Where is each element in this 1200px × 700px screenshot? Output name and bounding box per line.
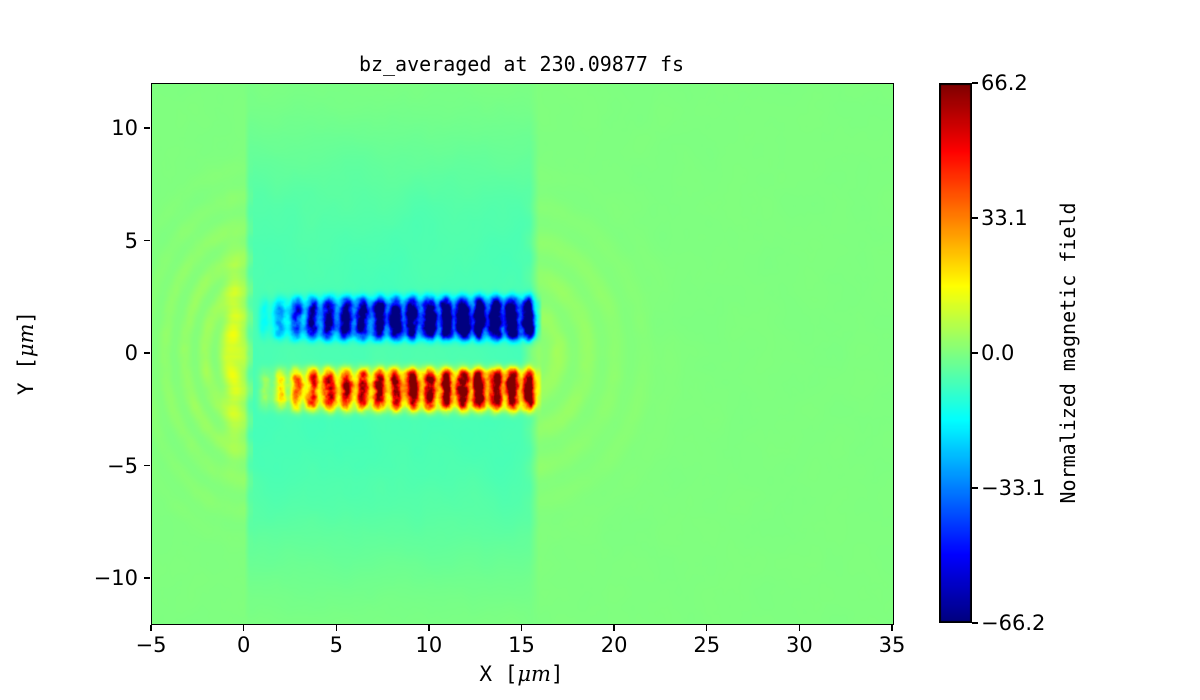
colorbar-tick-mark bbox=[972, 352, 978, 353]
x-tick-label: 25 bbox=[693, 633, 720, 657]
colorbar-tick-mark bbox=[972, 622, 978, 623]
x-tick-mark bbox=[150, 625, 151, 631]
y-axis-label-suffix: ] bbox=[14, 311, 38, 324]
colorbar-tick-mark bbox=[972, 217, 978, 218]
x-tick-label: 0 bbox=[237, 633, 250, 657]
y-axis-label-units: μm bbox=[14, 324, 38, 358]
x-tick-label: 30 bbox=[786, 633, 813, 657]
y-tick-mark bbox=[144, 240, 150, 241]
x-tick-mark bbox=[521, 625, 522, 631]
x-axis-label: X [μm] bbox=[151, 662, 892, 686]
heatmap-axes bbox=[151, 83, 894, 625]
y-tick-mark bbox=[144, 577, 150, 578]
page-title: bz_averaged at 230.09877 fs bbox=[151, 52, 892, 76]
y-tick-label: −10 bbox=[94, 566, 138, 590]
heatmap-image bbox=[152, 84, 893, 624]
colorbar-tick-label: −33.1 bbox=[981, 476, 1045, 500]
y-tick-label: 5 bbox=[125, 229, 138, 253]
x-tick-mark bbox=[799, 625, 800, 631]
x-tick-label: 5 bbox=[330, 633, 343, 657]
colorbar-tick-label: −66.2 bbox=[981, 611, 1045, 635]
colorbar-tick-mark bbox=[972, 487, 978, 488]
x-tick-label: 10 bbox=[416, 633, 443, 657]
colorbar-tick-label: 66.2 bbox=[981, 71, 1028, 95]
x-tick-label: 35 bbox=[879, 633, 906, 657]
figure-canvas: bz_averaged at 230.09877 fs −50510152025… bbox=[0, 0, 1200, 700]
x-tick-mark bbox=[891, 625, 892, 631]
colorbar-label: Normalized magnetic field bbox=[1056, 202, 1080, 503]
y-tick-label: −5 bbox=[107, 454, 138, 478]
x-tick-mark bbox=[428, 625, 429, 631]
x-tick-mark bbox=[706, 625, 707, 631]
colorbar-tick-label: 33.1 bbox=[981, 206, 1028, 230]
colorbar bbox=[939, 83, 972, 623]
y-tick-mark bbox=[144, 352, 150, 353]
x-tick-label: 20 bbox=[601, 633, 628, 657]
x-axis-label-suffix: ] bbox=[551, 662, 564, 686]
y-tick-label: 0 bbox=[125, 341, 138, 365]
x-tick-label: 15 bbox=[508, 633, 535, 657]
y-axis-label-prefix: Y [ bbox=[14, 357, 38, 395]
y-tick-label: 10 bbox=[111, 116, 138, 140]
y-tick-mark bbox=[144, 465, 150, 466]
x-tick-mark bbox=[613, 625, 614, 631]
colorbar-tick-mark bbox=[972, 82, 978, 83]
x-axis-label-prefix: X [ bbox=[479, 662, 517, 686]
x-tick-mark bbox=[336, 625, 337, 631]
x-tick-label: −5 bbox=[136, 633, 167, 657]
colorbar-tick-label: 0.0 bbox=[981, 341, 1014, 365]
colorbar-gradient bbox=[939, 83, 972, 623]
y-axis-label: Y [μm] bbox=[14, 311, 38, 395]
x-tick-mark bbox=[243, 625, 244, 631]
y-tick-mark bbox=[144, 127, 150, 128]
x-axis-label-units: μm bbox=[517, 662, 551, 686]
